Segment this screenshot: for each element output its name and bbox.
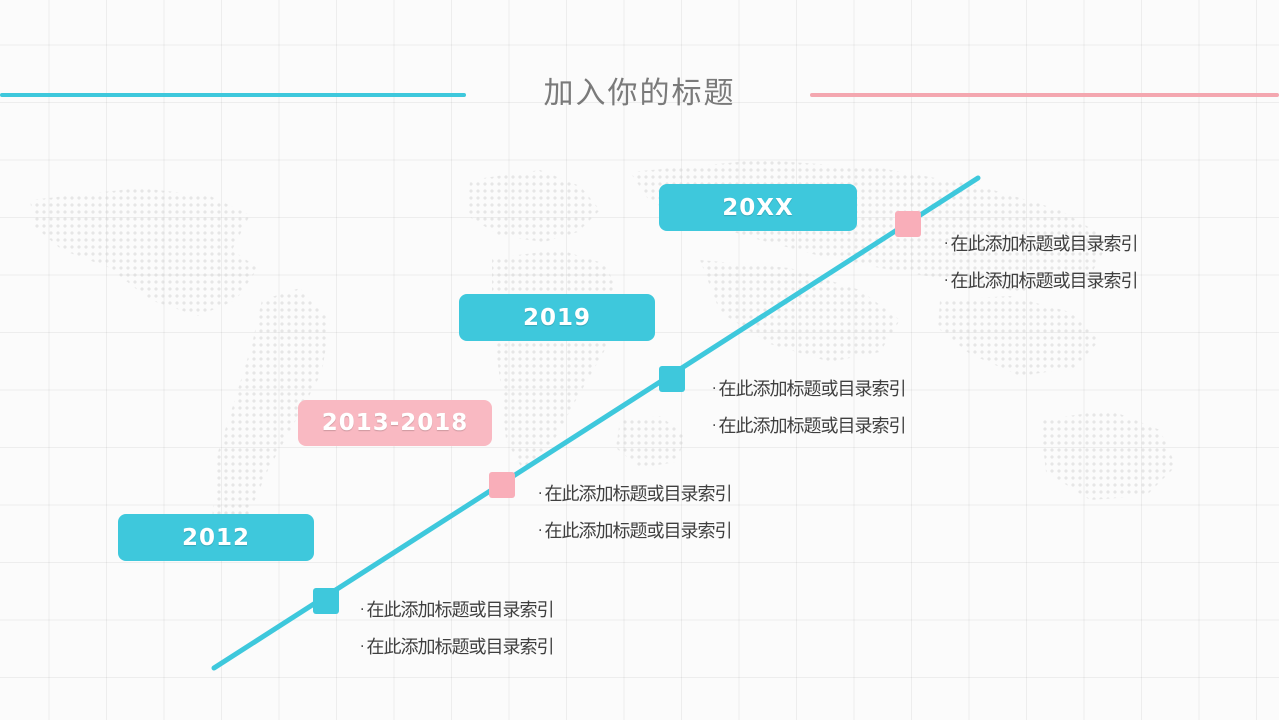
bullet-text: 在此添加标题或目录索引 — [366, 637, 553, 658]
year-pill-20xx-label: 20XX — [722, 195, 793, 221]
bullet-dot-icon: · — [712, 371, 715, 407]
bullets-2013-2018: ·在此添加标题或目录索引 ·在此添加标题或目录索引 — [538, 476, 731, 550]
year-pill-2012-label: 2012 — [182, 525, 250, 551]
year-pill-2019[interactable]: 2019 — [459, 294, 655, 341]
bullet-text: 在此添加标题或目录索引 — [366, 600, 553, 621]
bullets-2012: ·在此添加标题或目录索引 ·在此添加标题或目录索引 — [360, 592, 553, 666]
timeline-node-2019[interactable] — [659, 366, 685, 392]
bullet-text: 在此添加标题或目录索引 — [718, 416, 905, 437]
bullet-dot-icon: · — [944, 263, 947, 299]
bullet-line: ·在此添加标题或目录索引 — [360, 592, 553, 629]
timeline-node-2012[interactable] — [313, 588, 339, 614]
timeline-node-20xx[interactable] — [895, 211, 921, 237]
bullet-text: 在此添加标题或目录索引 — [544, 521, 731, 542]
bullet-dot-icon: · — [944, 226, 947, 262]
bullet-line: ·在此添加标题或目录索引 — [944, 226, 1137, 263]
bullet-dot-icon: · — [538, 476, 541, 512]
year-pill-2013-2018[interactable]: 2013-2018 — [298, 400, 492, 446]
bullet-text: 在此添加标题或目录索引 — [950, 234, 1137, 255]
timeline-arrow — [0, 0, 1279, 720]
year-pill-2019-label: 2019 — [523, 305, 591, 331]
bullet-line: ·在此添加标题或目录索引 — [712, 371, 905, 408]
bullet-text: 在此添加标题或目录索引 — [544, 484, 731, 505]
bullet-line: ·在此添加标题或目录索引 — [538, 476, 731, 513]
bullet-text: 在此添加标题或目录索引 — [950, 271, 1137, 292]
bullet-dot-icon: · — [360, 592, 363, 628]
bullet-line: ·在此添加标题或目录索引 — [360, 629, 553, 666]
bullet-dot-icon: · — [360, 629, 363, 665]
bullet-dot-icon: · — [538, 513, 541, 549]
bullet-line: ·在此添加标题或目录索引 — [538, 513, 731, 550]
timeline-node-2013-2018[interactable] — [489, 472, 515, 498]
bullet-line: ·在此添加标题或目录索引 — [944, 263, 1137, 300]
bullets-2019: ·在此添加标题或目录索引 ·在此添加标题或目录索引 — [712, 371, 905, 445]
bullet-text: 在此添加标题或目录索引 — [718, 379, 905, 400]
bullet-line: ·在此添加标题或目录索引 — [712, 408, 905, 445]
year-pill-2012[interactable]: 2012 — [118, 514, 314, 561]
year-pill-20xx[interactable]: 20XX — [659, 184, 857, 231]
year-pill-2013-2018-label: 2013-2018 — [322, 410, 469, 436]
bullets-20xx: ·在此添加标题或目录索引 ·在此添加标题或目录索引 — [944, 226, 1137, 300]
bullet-dot-icon: · — [712, 408, 715, 444]
slide-canvas: 加入你的标题 2012 ·在此添加标题或目录索引 ·在此添加标题或目录索引 20… — [0, 0, 1279, 720]
